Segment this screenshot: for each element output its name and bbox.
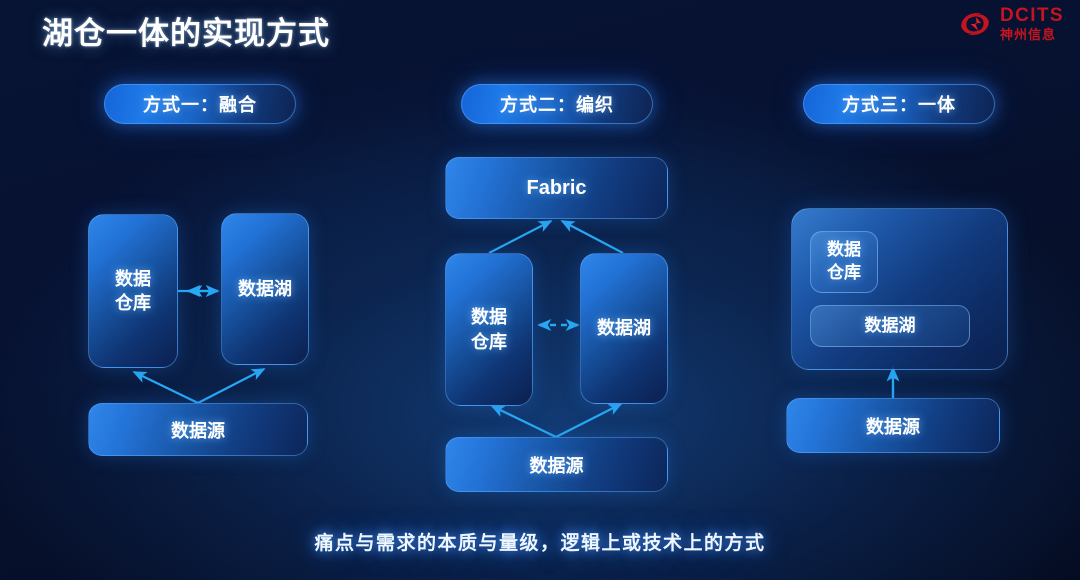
column-header-pill-fabric[interactable]: 方式二：编织 bbox=[461, 84, 653, 124]
node-c3-source[interactable]: 数据源 bbox=[786, 398, 1000, 453]
arrow-c2-source-to-warehouse bbox=[492, 406, 556, 437]
logo-text: DCITS 神州信息 bbox=[1000, 6, 1064, 41]
node-c3-warehouse[interactable]: 数据 仓库 bbox=[810, 231, 878, 293]
node-c1-lake-label: 数据湖 bbox=[238, 277, 292, 301]
node-c3-unified-container[interactable]: 数据 仓库 数据湖 bbox=[791, 208, 1008, 370]
node-c2-source[interactable]: 数据源 bbox=[445, 437, 668, 492]
node-c1-lake[interactable]: 数据湖 bbox=[221, 213, 309, 365]
logo-text-cn: 神州信息 bbox=[1000, 28, 1064, 41]
node-c3-lake-label: 数据湖 bbox=[865, 315, 916, 338]
footer-caption: 痛点与需求的本质与量级，逻辑上或技术上的方式 bbox=[0, 528, 1080, 555]
node-c2-lake-label: 数据湖 bbox=[597, 316, 651, 340]
node-c2-lake[interactable]: 数据湖 bbox=[580, 253, 668, 404]
node-c1-warehouse-label: 数据 仓库 bbox=[115, 267, 151, 316]
dcits-swirl-logo-icon bbox=[956, 7, 994, 41]
arrow-c1-source-to-lake bbox=[198, 369, 264, 403]
node-c2-fabric-label: Fabric bbox=[526, 177, 586, 200]
node-c2-warehouse-label: 数据 仓库 bbox=[471, 305, 507, 354]
node-c3-source-label: 数据源 bbox=[866, 413, 920, 439]
node-c3-warehouse-label: 数据 仓库 bbox=[827, 239, 861, 285]
column-header-pill-unified[interactable]: 方式三：一体 bbox=[803, 84, 995, 124]
node-c2-source-label: 数据源 bbox=[530, 452, 584, 478]
node-c1-source-label: 数据源 bbox=[171, 417, 225, 443]
column-header-pill-fusion[interactable]: 方式一：融合 bbox=[104, 84, 296, 124]
node-c1-warehouse[interactable]: 数据 仓库 bbox=[88, 214, 178, 368]
page-title: 湖仓一体的实现方式 bbox=[42, 8, 330, 53]
node-c2-fabric[interactable]: Fabric bbox=[445, 157, 668, 219]
node-c3-lake[interactable]: 数据湖 bbox=[810, 305, 970, 347]
node-c2-warehouse[interactable]: 数据 仓库 bbox=[445, 253, 533, 406]
arrow-c2-lake-to-fabric bbox=[562, 221, 623, 253]
arrow-c2-warehouse-to-fabric bbox=[489, 221, 551, 253]
arrow-c1-source-to-warehouse bbox=[134, 372, 198, 403]
arrow-c2-source-to-lake bbox=[556, 404, 621, 437]
slide-canvas: 湖仓一体的实现方式 DCITS 神州信息 方式一：融合 方式二：编织 方式三：一… bbox=[0, 0, 1080, 580]
brand-logo: DCITS 神州信息 bbox=[956, 6, 1064, 41]
node-c1-source[interactable]: 数据源 bbox=[88, 403, 308, 456]
logo-text-en: DCITS bbox=[1000, 6, 1064, 25]
